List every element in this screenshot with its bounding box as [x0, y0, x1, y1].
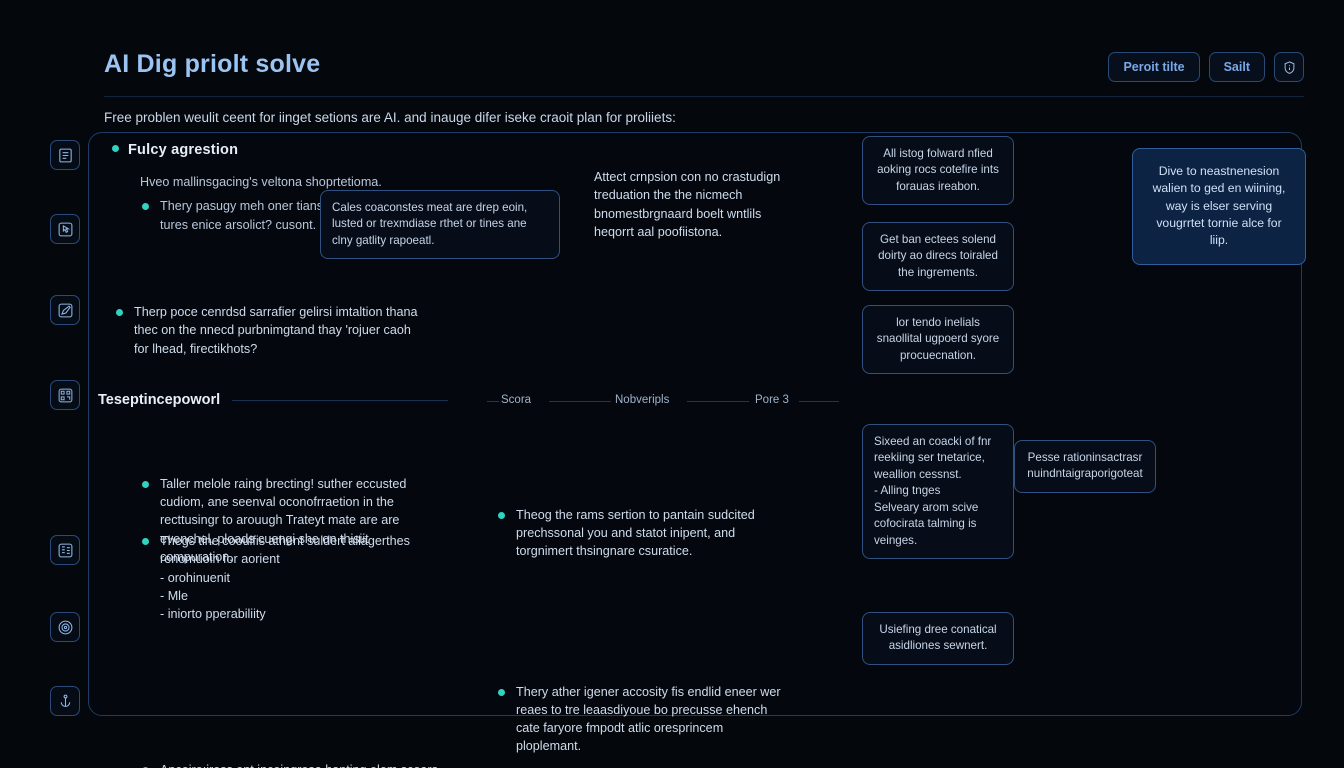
section-teseptincepoworl: Teseptincepoworl	[98, 392, 448, 408]
list-item: Thegs tine cooulfis athent suldert allag…	[140, 532, 440, 569]
sidebar-item-target[interactable]	[50, 612, 80, 642]
card-top-right-1[interactable]: All istog folward nfied aoking rocs cote…	[862, 136, 1014, 205]
stage-divider: Scora Nobveripls Pore 3	[487, 394, 1287, 408]
app-root: AI Dig priolt solve Peroit tilte Sailt F…	[0, 0, 1344, 768]
divider-label-1: Scora	[501, 394, 531, 406]
permit-title-button[interactable]: Peroit tilte	[1108, 52, 1199, 82]
sidebar-item-anchor[interactable]	[50, 686, 80, 716]
bullet-dot-icon	[112, 145, 119, 152]
info-icon[interactable]	[1274, 52, 1304, 82]
card-far-right[interactable]: Pesse rationinsactrasr nuindntaigraporig…	[1014, 440, 1156, 493]
dash-item: - orohinuenit	[160, 569, 440, 587]
section-heading: Fulcy agrestion	[112, 140, 412, 161]
left-block-2: Therp poce cenrdsd sarrafier gelirsi imt…	[114, 303, 426, 358]
header-divider	[104, 96, 1304, 97]
sidebar-item-grid[interactable]	[50, 380, 80, 410]
sidebar-item-select[interactable]	[50, 214, 80, 244]
left-bullet-2: Thegs tine cooulfis athent suldert allag…	[140, 532, 440, 623]
middle-block-1: Attect crnpsion con no crastudign tredua…	[594, 168, 784, 241]
header-actions: Peroit tilte Sailt	[1108, 52, 1304, 82]
sidebar-item-notes[interactable]	[50, 140, 80, 170]
page-title: AI Dig priolt solve	[104, 50, 320, 79]
card-left-note[interactable]: Cales coaconstes meat are drep eoin, lus…	[320, 190, 560, 259]
left-bullet-3: Ancoire;iress ont inceingresa hanting ol…	[140, 761, 440, 768]
divider-label-2: Nobveripls	[615, 394, 669, 406]
sidebar-item-form[interactable]	[50, 535, 80, 565]
salt-button[interactable]: Sailt	[1209, 52, 1265, 82]
section-lead-text: Hveo mallinsgacing's veltona shoprtetiom…	[140, 173, 412, 191]
divider-label-3: Pore 3	[755, 394, 789, 406]
dash-item: - Mle	[160, 587, 440, 605]
sidebar-item-draw[interactable]	[50, 295, 80, 325]
section-heading: Teseptincepoworl	[98, 392, 220, 408]
card-top-right-2[interactable]: Get ban ectees solend doirty ao direcs t…	[862, 222, 1014, 291]
card-top-right-3[interactable]: lor tendo inelials snaollital ugpoerd sy…	[862, 305, 1014, 374]
middle-block-2: Theog the rams sertion to pantain sudcit…	[496, 506, 786, 561]
dash-item: - iniorto pperabiliity	[160, 605, 440, 623]
middle-block-3: Thery ather igener accosity fis endlid e…	[496, 683, 786, 756]
card-bottom-right[interactable]: Usiefing dree conatical asidliones sewne…	[862, 612, 1014, 665]
card-highlight[interactable]: Dive to neastnenesion walien to ged en w…	[1132, 148, 1306, 265]
section-rule	[232, 400, 448, 401]
card-mid-right[interactable]: Sixeed an coacki of fnr reekiing ser tne…	[862, 424, 1014, 559]
sidebar-rail	[50, 130, 84, 716]
page-subtitle: Free problen weulit ceent for iinget set…	[104, 110, 676, 125]
